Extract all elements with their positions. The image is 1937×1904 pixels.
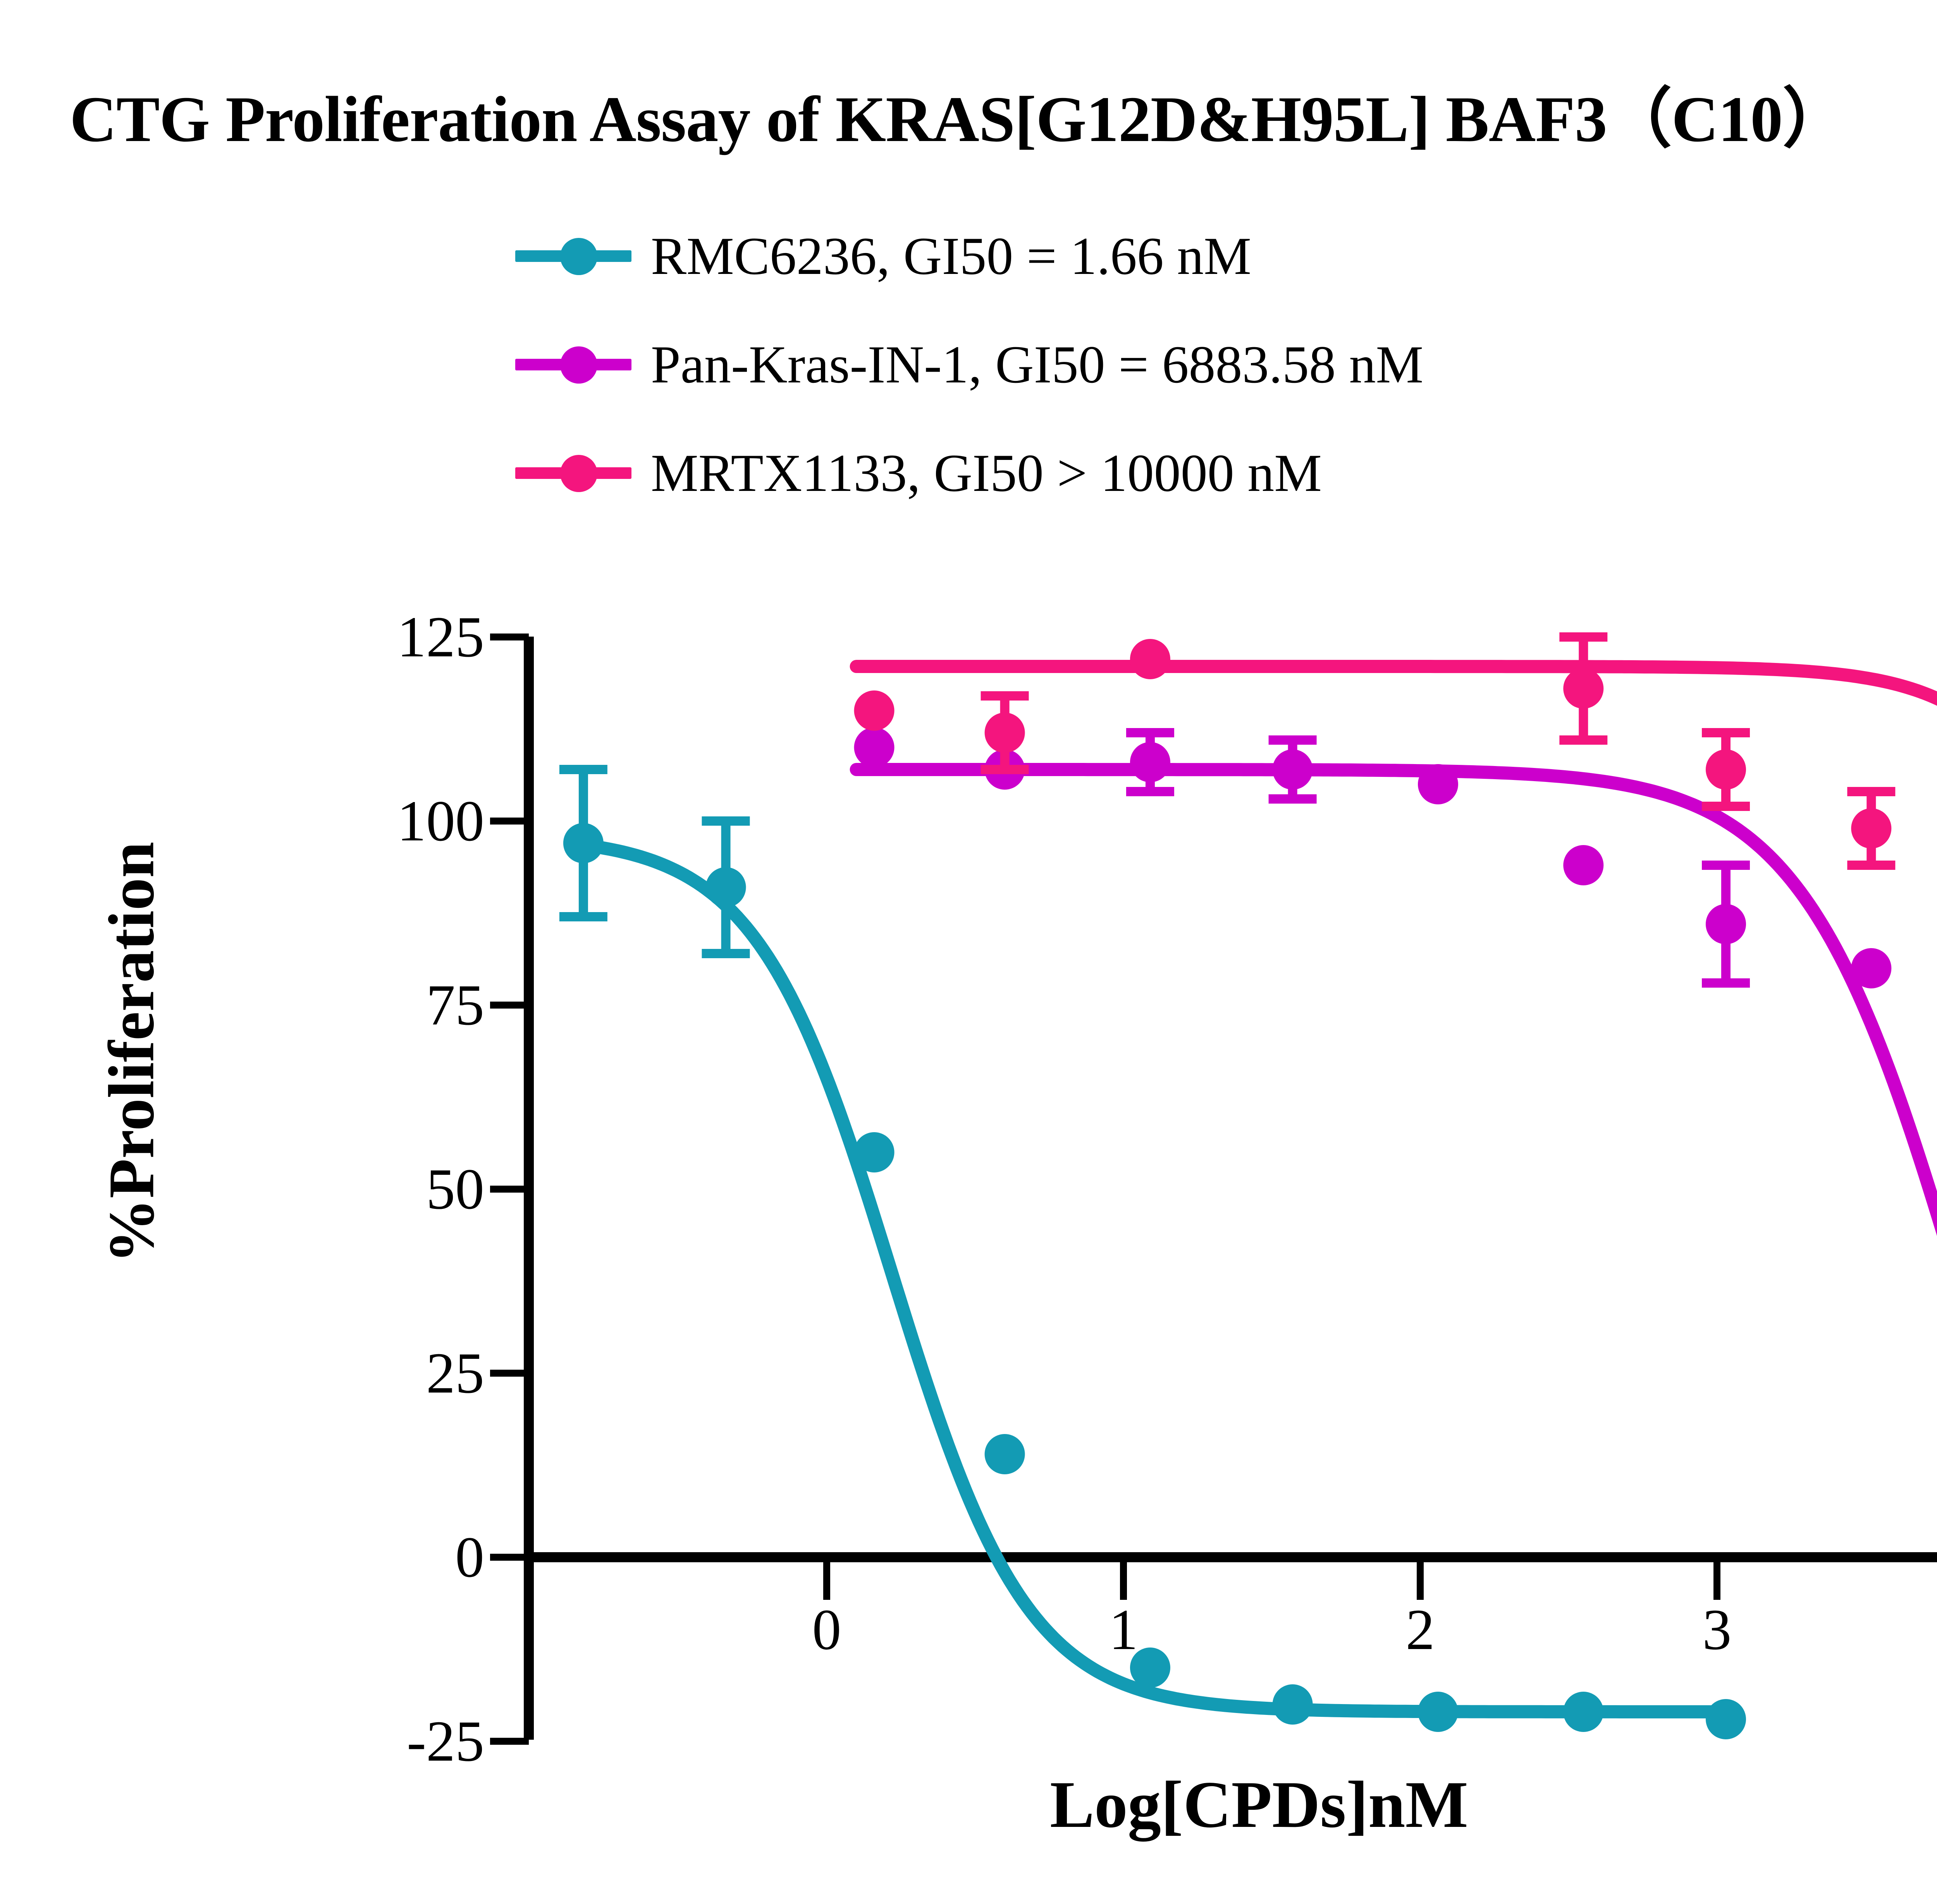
- data-point-rmc6236: [1563, 1692, 1603, 1732]
- data-point-rmc6236: [1273, 1684, 1313, 1725]
- data-point-pan-kras-in-1: [1563, 845, 1603, 885]
- fit-curve-rmc6236: [583, 845, 1726, 1712]
- data-point-mrtx1133: [1563, 668, 1603, 709]
- data-point-rmc6236: [706, 867, 746, 907]
- data-point-mrtx1133: [854, 690, 895, 731]
- chart-figure: CTG Proliferation Assay of KRAS[G12D&H95…: [0, 0, 1937, 1904]
- data-point-pan-kras-in-1: [1273, 749, 1313, 790]
- data-point-rmc6236: [1418, 1692, 1458, 1732]
- data-point-pan-kras-in-1: [1706, 904, 1746, 944]
- plot-area: [0, 0, 1937, 1904]
- data-point-mrtx1133: [1130, 639, 1170, 679]
- data-point-mrtx1133: [985, 713, 1025, 753]
- data-point-rmc6236: [563, 823, 604, 863]
- data-point-pan-kras-in-1: [1130, 742, 1170, 782]
- data-point-pan-kras-in-1: [854, 727, 895, 768]
- data-point-pan-kras-in-1: [1851, 948, 1891, 988]
- data-point-rmc6236: [1706, 1699, 1746, 1739]
- data-point-rmc6236: [1130, 1647, 1170, 1688]
- data-point-pan-kras-in-1: [1418, 764, 1458, 804]
- data-point-rmc6236: [854, 1132, 895, 1172]
- data-point-mrtx1133: [1706, 749, 1746, 790]
- data-point-rmc6236: [985, 1434, 1025, 1474]
- data-point-mrtx1133: [1851, 808, 1891, 849]
- fit-curve-pan-kras-in-1: [857, 770, 1937, 1466]
